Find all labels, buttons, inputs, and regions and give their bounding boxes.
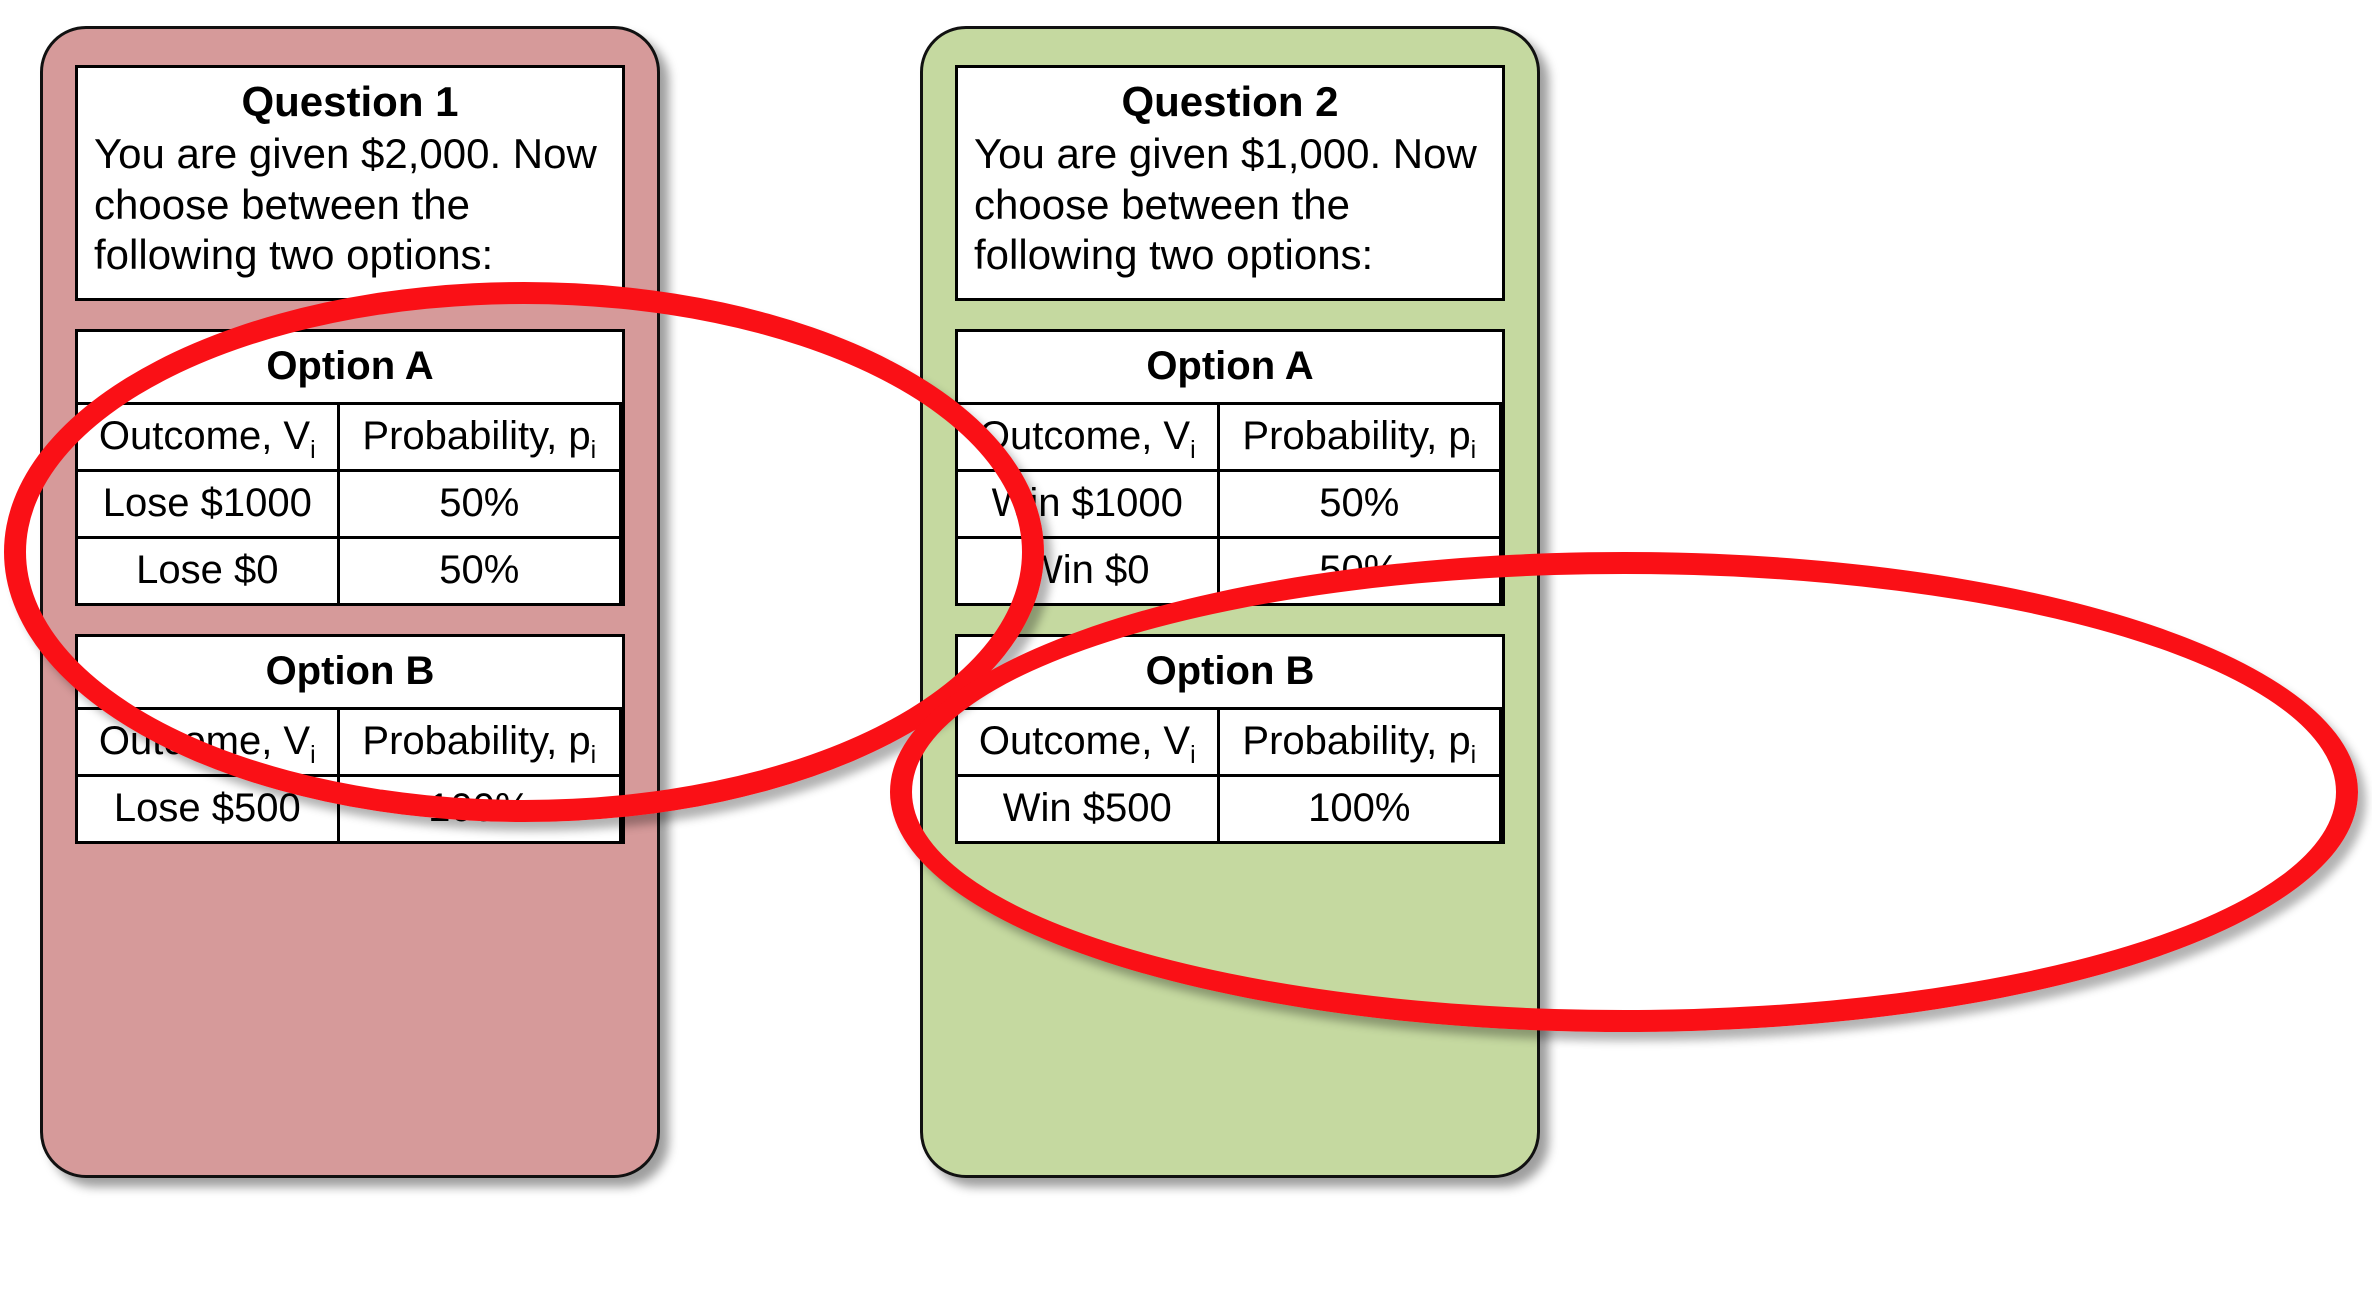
subscript-i: i	[1190, 437, 1196, 464]
table-row: Win $1000 50%	[958, 471, 1501, 538]
question-1-title: Question 1	[94, 76, 606, 127]
question-1-prompt-text: You are given $2,000. Now choose between…	[94, 129, 606, 280]
subscript-i: i	[1471, 742, 1477, 769]
question-1-option-a-block[interactable]: Option A Outcome, Vi Probability, pi Los…	[75, 329, 625, 606]
table-row: Win $0 50%	[958, 538, 1501, 604]
outcome-cell: Win $1000	[958, 471, 1218, 538]
table-row: Lose $0 50%	[78, 538, 621, 604]
subscript-i: i	[1190, 742, 1196, 769]
probability-cell: 100%	[338, 776, 620, 842]
subscript-i: i	[1471, 437, 1477, 464]
outcome-header: Outcome, Vi	[958, 710, 1218, 776]
outcome-cell: Lose $1000	[78, 471, 338, 538]
probability-header: Probability, pi	[1218, 405, 1500, 471]
table-row: Lose $1000 50%	[78, 471, 621, 538]
probability-header: Probability, pi	[338, 710, 620, 776]
probability-cell: 50%	[338, 471, 620, 538]
question-1-prompt-block: Question 1 You are given $2,000. Now cho…	[75, 65, 625, 301]
outcome-cell: Win $500	[958, 776, 1218, 842]
question-1-option-a-label: Option A	[78, 332, 622, 405]
probability-cell: 100%	[1218, 776, 1500, 842]
question-panel-1: Question 1 You are given $2,000. Now cho…	[40, 26, 660, 1178]
probability-cell: 50%	[1218, 471, 1500, 538]
table-header-row: Outcome, Vi Probability, pi	[958, 710, 1501, 776]
subscript-i: i	[310, 437, 316, 464]
subscript-i: i	[591, 437, 597, 464]
subscript-i: i	[310, 742, 316, 769]
question-2-title: Question 2	[974, 76, 1486, 127]
outcome-header: Outcome, Vi	[958, 405, 1218, 471]
probability-cell: 50%	[1218, 538, 1500, 604]
outcome-cell: Lose $500	[78, 776, 338, 842]
question-2-option-a-table: Outcome, Vi Probability, pi Win $1000 50…	[958, 405, 1502, 603]
question-panel-2: Question 2 You are given $1,000. Now cho…	[920, 26, 1540, 1178]
slide-canvas: Question 1 You are given $2,000. Now cho…	[0, 0, 2372, 1296]
question-2-prompt-block: Question 2 You are given $1,000. Now cho…	[955, 65, 1505, 301]
table-row: Win $500 100%	[958, 776, 1501, 842]
outcome-cell: Lose $0	[78, 538, 338, 604]
subscript-i: i	[591, 742, 597, 769]
question-1-option-b-label: Option B	[78, 637, 622, 710]
question-1-option-b-table: Outcome, Vi Probability, pi Lose $500 10…	[78, 710, 622, 841]
table-header-row: Outcome, Vi Probability, pi	[78, 710, 621, 776]
question-2-option-b-label: Option B	[958, 637, 1502, 710]
outcome-header: Outcome, Vi	[78, 710, 338, 776]
table-header-row: Outcome, Vi Probability, pi	[78, 405, 621, 471]
probability-header: Probability, pi	[1218, 710, 1500, 776]
table-row: Lose $500 100%	[78, 776, 621, 842]
question-2-option-a-block[interactable]: Option A Outcome, Vi Probability, pi Win…	[955, 329, 1505, 606]
question-2-option-b-table: Outcome, Vi Probability, pi Win $500 100…	[958, 710, 1502, 841]
probability-header: Probability, pi	[338, 405, 620, 471]
question-2-prompt-text: You are given $1,000. Now choose between…	[974, 129, 1486, 280]
outcome-cell: Win $0	[958, 538, 1218, 604]
outcome-header: Outcome, Vi	[78, 405, 338, 471]
question-2-option-a-label: Option A	[958, 332, 1502, 405]
question-2-option-b-block[interactable]: Option B Outcome, Vi Probability, pi Win…	[955, 634, 1505, 844]
table-header-row: Outcome, Vi Probability, pi	[958, 405, 1501, 471]
question-1-option-b-block[interactable]: Option B Outcome, Vi Probability, pi Los…	[75, 634, 625, 844]
question-1-option-a-table: Outcome, Vi Probability, pi Lose $1000 5…	[78, 405, 622, 603]
probability-cell: 50%	[338, 538, 620, 604]
